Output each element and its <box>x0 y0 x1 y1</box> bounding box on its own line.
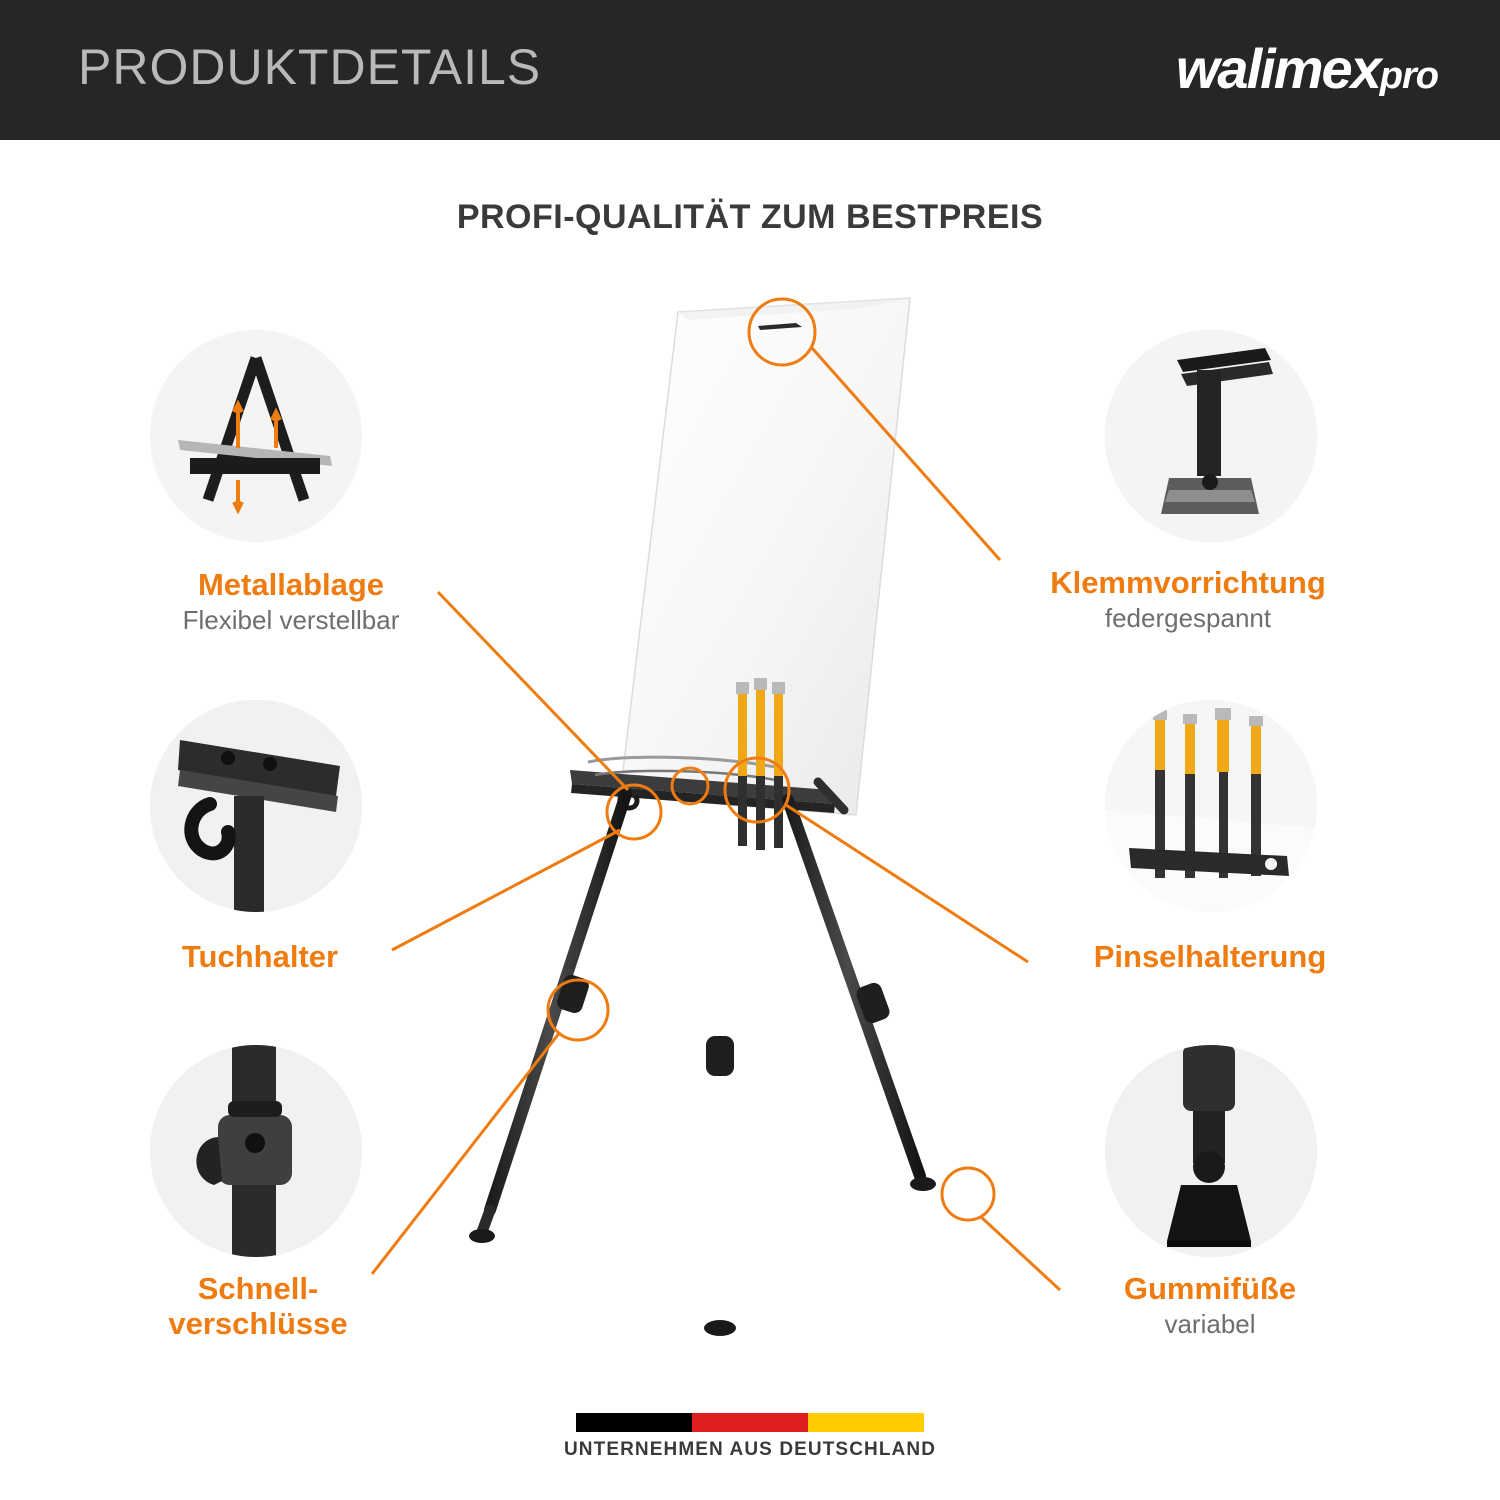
feature-title: Gummifüße <box>1010 1272 1410 1307</box>
tripod-legs <box>469 782 936 1336</box>
feature-image-schnellverschluesse <box>150 1045 362 1257</box>
feature-title: Pinselhalterung <box>1010 940 1410 975</box>
german-flag <box>576 1413 924 1432</box>
brand-suffix: pro <box>1380 55 1438 97</box>
feature-label-gummifuesse: Gummifüße variabel <box>1010 1272 1410 1340</box>
footer: UNTERNEHMEN AUS DEUTSCHLAND <box>0 1400 1500 1461</box>
feature-title: Metallablage <box>76 568 506 603</box>
flag-stripe-red <box>692 1413 808 1432</box>
brand-logo: walimexpro <box>1176 34 1438 104</box>
feature-title: Klemmvorrichtung <box>952 566 1424 601</box>
feature-subtitle: variabel <box>1010 1310 1410 1340</box>
feature-image-klemmvorrichtung <box>1105 330 1317 542</box>
flag-stripe-gold <box>808 1413 924 1432</box>
paint-brushes <box>736 678 785 850</box>
brand-name: walimex <box>1176 37 1380 100</box>
feature-title: Tuchhalter <box>60 940 460 975</box>
feature-label-metallablage: Metallablage Flexibel verstellbar <box>76 568 506 636</box>
feature-image-tuchhalter <box>150 700 362 912</box>
product-details-infographic: PRODUKTDETAILS walimexpro PROFI-QUALITÄT… <box>0 0 1500 1500</box>
feature-label-pinselhalterung: Pinselhalterung <box>1010 940 1410 975</box>
feature-title: Schnell- verschlüsse <box>48 1272 468 1341</box>
footer-text: UNTERNEHMEN AUS DEUTSCHLAND <box>0 1439 1500 1461</box>
product-illustration <box>420 270 1080 1380</box>
flag-stripe-black <box>576 1413 692 1432</box>
feature-subtitle: Flexibel verstellbar <box>76 606 506 636</box>
page-title: PRODUKTDETAILS <box>78 38 541 96</box>
feature-label-schnellverschluesse: Schnell- verschlüsse <box>48 1272 468 1341</box>
feature-label-klemmvorrichtung: Klemmvorrichtung federgespannt <box>952 566 1424 634</box>
feature-image-pinselhalterung <box>1105 700 1317 912</box>
feature-subtitle: federgespannt <box>952 604 1424 634</box>
feature-image-metallablage <box>150 330 362 542</box>
feature-label-tuchhalter: Tuchhalter <box>60 940 460 975</box>
page-header: PRODUKTDETAILS walimexpro <box>0 0 1500 140</box>
feature-image-gummifuesse <box>1105 1045 1317 1257</box>
subheadline: PROFI-QUALITÄT ZUM BESTPREIS <box>0 198 1500 237</box>
